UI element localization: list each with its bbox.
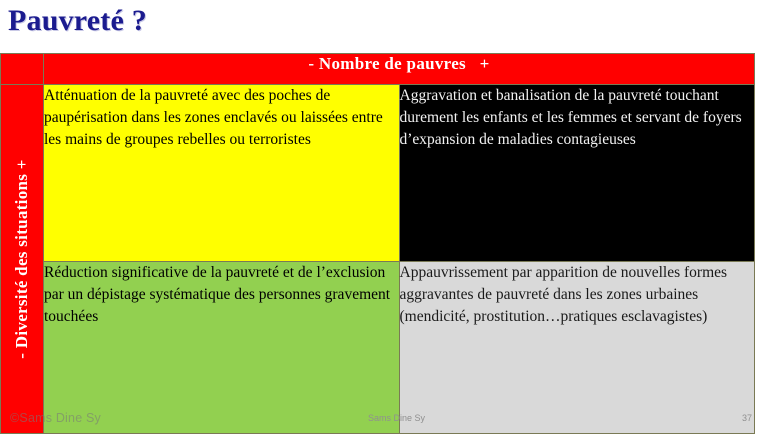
quadrant-top-right-text: Aggravation et banalisation de la pauvre… bbox=[400, 85, 755, 151]
matrix-corner-cell bbox=[1, 54, 44, 85]
matrix-top-row: - Diversité des situations + Atténuation… bbox=[1, 85, 755, 262]
quadrant-bottom-right: Appauvrissement par apparition de nouvel… bbox=[399, 262, 755, 434]
poverty-matrix: - Nombre de pauvres + - Diversité des si… bbox=[0, 53, 755, 434]
quadrant-top-right: Aggravation et banalisation de la pauvre… bbox=[399, 85, 755, 262]
quadrant-top-left: Atténuation de la pauvreté avec des poch… bbox=[44, 85, 400, 262]
quadrant-top-left-text: Atténuation de la pauvreté avec des poch… bbox=[44, 85, 399, 151]
matrix-header-row: - Nombre de pauvres + bbox=[1, 54, 755, 85]
column-axis-label: - Nombre de pauvres + bbox=[308, 54, 489, 73]
page-title: Pauvreté ? bbox=[8, 4, 147, 38]
footer-credit: Sams Dine Sy bbox=[368, 413, 425, 423]
slide-number: 37 bbox=[742, 413, 752, 423]
quadrant-bottom-right-text: Appauvrissement par apparition de nouvel… bbox=[400, 262, 755, 328]
column-axis-header: - Nombre de pauvres + bbox=[44, 54, 755, 85]
row-axis-header: - Diversité des situations + bbox=[1, 85, 44, 434]
row-axis-label: - Diversité des situations + bbox=[12, 159, 32, 358]
matrix-bottom-row: Réduction significative de la pauvreté e… bbox=[1, 262, 755, 434]
quadrant-bottom-left-text: Réduction significative de la pauvreté e… bbox=[44, 262, 399, 328]
quadrant-bottom-left: Réduction significative de la pauvreté e… bbox=[44, 262, 400, 434]
watermark-text: ©Sams Dine Sy bbox=[10, 411, 101, 425]
